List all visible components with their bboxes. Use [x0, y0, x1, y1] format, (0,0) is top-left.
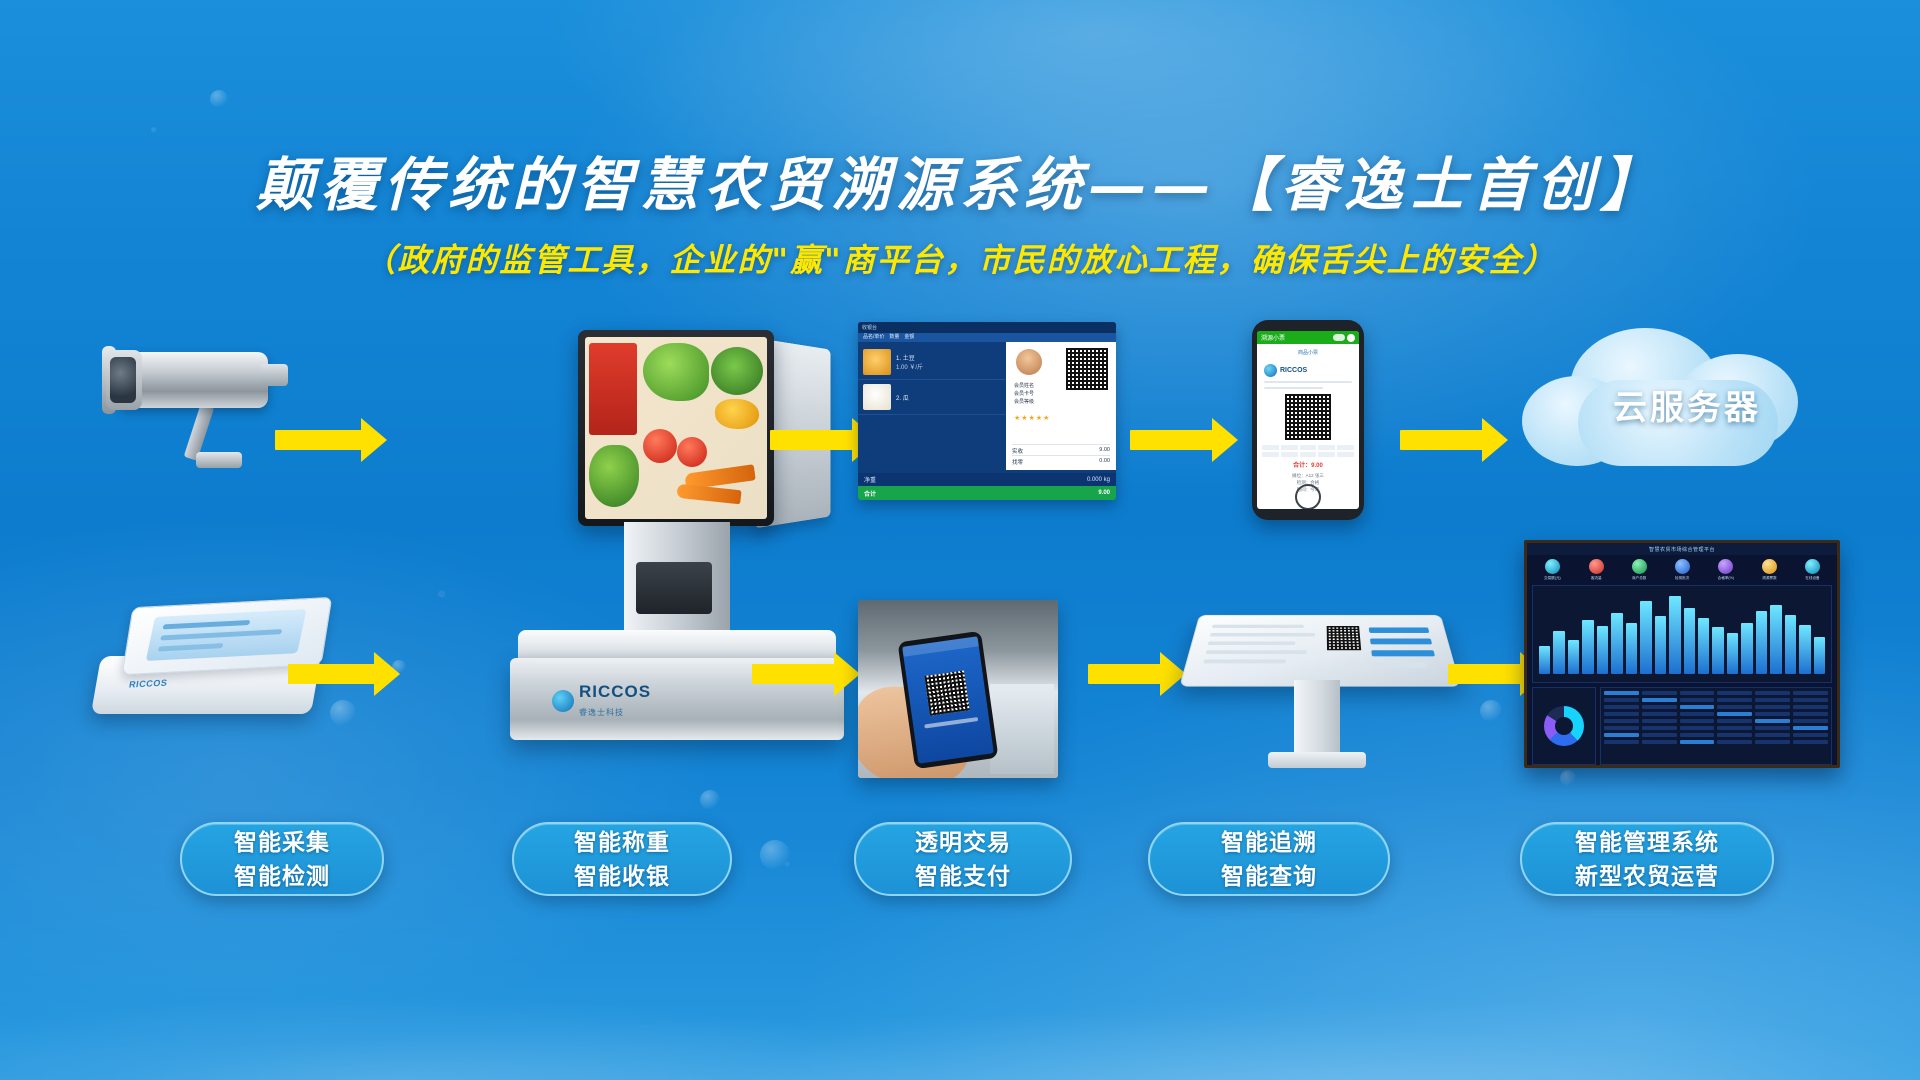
kpi-label: 检测批次: [1675, 576, 1689, 581]
pos-display-image: [585, 337, 767, 519]
member-qr-code: [1066, 348, 1108, 390]
stage-label-line1: 智能采集: [234, 825, 330, 859]
pos-main-display: [578, 330, 774, 526]
cloud-server-label: 云服务器: [1512, 380, 1862, 429]
pos-receipt-printer: [636, 562, 712, 614]
stage-label-trade: 透明交易 智能支付: [854, 822, 1072, 896]
bubble-decoration: [760, 840, 790, 870]
item-thumbnail: [863, 384, 891, 410]
flow-arrow-cashier-to-phone: [1130, 418, 1240, 462]
flow-arrow-pos-to-payment: [752, 652, 862, 696]
weight-label: 净重: [864, 475, 876, 484]
kpi-label: 商户总数: [1632, 576, 1646, 581]
bar: [1785, 615, 1796, 674]
phone-app-bar: 溯源小票: [1257, 331, 1359, 344]
member-rating-stars: ★★★★★: [1014, 414, 1050, 422]
detector-screen: [146, 609, 307, 661]
brand-name-cn: 睿逸士科技: [579, 708, 624, 717]
bubble-decoration: [1480, 700, 1502, 722]
item-name: 瓜: [903, 396, 909, 402]
stage-label-collect: 智能采集 智能检测: [180, 822, 384, 896]
bar: [1698, 618, 1709, 674]
kpi-card[interactable]: 溯源票数: [1762, 559, 1777, 581]
detector-brand-label: RICCOS: [128, 678, 168, 690]
kpi-label: 在线设备: [1805, 576, 1819, 581]
riccos-logo-icon: [1264, 364, 1277, 377]
veg-lettuce: [643, 343, 709, 401]
kpi-label: 合格率(%): [1718, 576, 1734, 581]
member-level-label: 会员等级: [1014, 398, 1034, 406]
total-label: 合计: [864, 489, 876, 498]
device-security-camera: [100, 330, 300, 480]
traceability-qr-code[interactable]: [1285, 394, 1331, 440]
veg-tomato: [643, 429, 677, 463]
detector-screen-line: [162, 620, 250, 630]
shelf-goods: [990, 684, 1054, 774]
divider: [1264, 387, 1323, 389]
phone-note-0: 摊位：A12 张三: [1257, 472, 1359, 479]
dashboard-title: 智慧农贸市场综合管理平台: [1649, 546, 1715, 553]
kpi-dot-icon: [1675, 559, 1690, 574]
bar: [1640, 601, 1651, 674]
bar: [1741, 623, 1752, 674]
item-no: 2: [896, 396, 899, 402]
detector-screen-line: [160, 629, 282, 640]
cashier-member-panel: 会员姓名 会员卡号 会员等级 ★★★★★ 实收 9.00 找零 0.00: [1006, 342, 1116, 470]
cloud-server: 云服务器: [1512, 328, 1862, 478]
veg-pepper: [715, 399, 759, 429]
payment-phone-screen: [902, 636, 994, 763]
phone-total-red: 合计：9.00: [1257, 460, 1359, 469]
kiosk-row-placeholder: [1203, 659, 1286, 663]
kpi-card[interactable]: 在线设备: [1805, 559, 1820, 581]
phone-screen: 溯源小票 商品小票 RICCOS 合计：9.00 摊位：A12 张三: [1257, 331, 1359, 509]
bar: [1756, 611, 1767, 674]
poster-canvas: 颠覆传统的智慧农贸溯源系统——【睿逸士首创】 （政府的监管工具，企业的"赢"商平…: [0, 0, 1920, 1080]
phone-app-title: 溯源小票: [1261, 333, 1285, 342]
kpi-label: 交易额(元): [1544, 576, 1561, 581]
cashier-col-0: 品名/单价: [858, 333, 884, 342]
kiosk-pedestal: [1294, 680, 1340, 758]
item-qty: 1.00: [896, 365, 908, 371]
cashier-col-1: 数量: [884, 333, 899, 342]
bar: [1568, 640, 1579, 674]
veg-broccoli: [711, 347, 763, 395]
page-subtitle: （政府的监管工具，企业的"赢"商平台，市民的放心工程，确保舌尖上的安全）: [0, 235, 1920, 281]
riccos-logo-icon: [552, 690, 574, 712]
kpi-dot-icon: [1545, 559, 1560, 574]
camera-wall-mount: [196, 452, 242, 468]
bubble-decoration: [210, 90, 228, 108]
payment-hint-bar: [924, 717, 978, 728]
kiosk-base: [1268, 752, 1366, 768]
kiosk-row-placeholder: [1210, 633, 1315, 637]
detector-screen-line: [158, 643, 224, 651]
bar: [1539, 646, 1550, 674]
item-thumbnail: [863, 349, 891, 375]
stage-label-trace: 智能追溯 智能查询: [1148, 822, 1390, 896]
cashier-window-title: 收银台: [862, 324, 877, 331]
flow-arrow-phone-to-cloud: [1400, 418, 1510, 462]
device-smartphone-miniprogram: 溯源小票 商品小票 RICCOS 合计：9.00 摊位：A12 张三: [1252, 320, 1364, 520]
stage-label-line1: 智能称重: [574, 825, 670, 859]
kiosk-row-placeholder: [1206, 650, 1307, 654]
stage-label-line1: 智能管理系统: [1575, 825, 1719, 859]
member-card-label: 会员卡号: [1014, 390, 1034, 398]
stage-label-weigh: 智能称重 智能收银: [512, 822, 732, 896]
kiosk-result-bar: [1371, 650, 1435, 656]
cashier-column-header: 品名/单价 数量 金额: [858, 333, 1116, 342]
dashboard-data-table: [1600, 687, 1832, 765]
camera-cable-connector: [260, 364, 288, 386]
footer-label-1: 找零: [1012, 458, 1023, 466]
brand-name: RICCOS: [579, 682, 651, 701]
dashboard-kpi-row: 交易额(元) 客流量 商户总数 检测批次 合格率(%) 溯源票数 在线设备: [1527, 555, 1837, 583]
footer-value-1: 0.00: [1099, 458, 1110, 466]
bar-series: [1539, 596, 1825, 674]
dashboard-bottom-row: [1532, 687, 1832, 765]
kpi-card[interactable]: 客流量: [1589, 559, 1604, 581]
stage-label-manage: 智能管理系统 新型农贸运营: [1520, 822, 1774, 896]
kpi-card[interactable]: 合格率(%): [1718, 559, 1734, 581]
kiosk-result-bar: [1373, 663, 1428, 668]
kpi-card[interactable]: 商户总数: [1632, 559, 1647, 581]
page-title: 颠覆传统的智慧农贸溯源系统——【睿逸士首创】: [0, 138, 1920, 222]
stage-label-line2: 新型农贸运营: [1575, 859, 1719, 893]
kpi-dot-icon: [1762, 559, 1777, 574]
dashboard-bar-chart: [1532, 585, 1832, 683]
veg-tomato: [677, 437, 707, 467]
photo-mobile-payment: [858, 600, 1058, 778]
bar: [1669, 596, 1680, 674]
flow-arrow-detector-to-pos: [288, 652, 403, 696]
member-avatar: [1016, 349, 1042, 375]
flow-arrow-camera-to-pos: [275, 418, 390, 462]
bar: [1770, 605, 1781, 674]
bubble-decoration: [700, 790, 720, 810]
kiosk-qr-code[interactable]: [1327, 626, 1362, 650]
home-button-icon[interactable]: [1295, 484, 1321, 509]
kiosk-row-placeholder: [1208, 641, 1296, 645]
bar: [1814, 637, 1825, 674]
item-unit: ￥/斤: [909, 365, 923, 371]
donut-chart: [1544, 706, 1584, 746]
kpi-dot-icon: [1718, 559, 1733, 574]
pos-brand-logo: RICCOS 睿逸士科技: [552, 682, 651, 720]
phone-data-table: [1262, 445, 1354, 457]
stage-label-line1: 透明交易: [915, 825, 1011, 859]
kiosk-row-placeholder: [1212, 625, 1304, 628]
stage-label-line2: 智能支付: [915, 859, 1011, 893]
cashier-weight-bar: 净重 0.000 kg: [858, 473, 1116, 486]
bar: [1799, 625, 1810, 674]
divider: [1264, 381, 1352, 383]
kiosk-touch-panel[interactable]: [1179, 615, 1461, 687]
bar: [1684, 608, 1695, 674]
screen-cashier-software: 收银台 品名/单价 数量 金额 1. 土豆 1.00 ￥/斤 3.00 2. 瓜…: [858, 322, 1116, 500]
kpi-dot-icon: [1632, 559, 1647, 574]
weight-value: 0.000 kg: [1087, 477, 1110, 483]
member-name-label: 会员姓名: [1014, 382, 1034, 390]
veg-promo-banner: [589, 343, 637, 435]
cashier-total-bar: 合计 9.00: [858, 486, 1116, 500]
stage-label-line2: 智能查询: [1221, 859, 1317, 893]
bar: [1655, 616, 1666, 675]
bubble-decoration: [1560, 770, 1576, 786]
stage-label-line2: 智能检测: [234, 859, 330, 893]
close-circle-icon[interactable]: [1347, 334, 1355, 342]
phone-brand-logo: RICCOS: [1264, 364, 1359, 377]
camera-lens-glass: [110, 357, 136, 403]
footer-label-0: 实收: [1012, 447, 1023, 455]
kpi-label: 客流量: [1591, 576, 1602, 581]
stage-label-line1: 智能追溯: [1221, 825, 1317, 859]
payment-phone: [898, 631, 999, 769]
payment-qr-code[interactable]: [924, 670, 969, 715]
cashier-col-2: 金额: [899, 333, 914, 342]
phone-receipt-title: 商品小票: [1257, 349, 1359, 356]
bar: [1712, 627, 1723, 674]
footer-value-0: 9.00: [1099, 447, 1110, 455]
bar: [1553, 631, 1564, 674]
total-value: 9.00: [1098, 490, 1110, 496]
bar: [1626, 623, 1637, 674]
bar: [1611, 613, 1622, 674]
stage-label-line2: 智能收银: [574, 859, 670, 893]
cashier-titlebar: 收银台: [858, 322, 1116, 333]
flow-arrow-payment-to-kiosk: [1088, 652, 1188, 696]
kpi-dot-icon: [1589, 559, 1604, 574]
bar: [1727, 633, 1738, 674]
bar: [1597, 626, 1608, 674]
kiosk-result-bar: [1370, 639, 1432, 645]
bar: [1582, 620, 1593, 674]
cashier-footer: 净重 0.000 kg 合计 9.00: [858, 473, 1116, 500]
device-query-kiosk: [1190, 600, 1450, 775]
kiosk-result-bar: [1369, 627, 1430, 632]
kpi-card[interactable]: 交易额(元): [1544, 559, 1561, 581]
payment-app-header: [902, 636, 979, 656]
kpi-dot-icon: [1805, 559, 1820, 574]
kpi-label: 溯源票数: [1762, 576, 1776, 581]
phone-brand-name: RICCOS: [1280, 367, 1307, 374]
more-icon[interactable]: [1333, 334, 1345, 341]
veg-carrot: [676, 484, 741, 505]
dashboard-title-bar: 智慧农贸市场综合管理平台: [1527, 543, 1837, 555]
kpi-card[interactable]: 检测批次: [1675, 559, 1690, 581]
screen-bi-dashboard: 智慧农贸市场综合管理平台 交易额(元) 客流量 商户总数 检测批次 合格率(%)…: [1524, 540, 1840, 768]
veg-greens: [589, 445, 639, 507]
dashboard-donut-panel: [1532, 687, 1596, 765]
